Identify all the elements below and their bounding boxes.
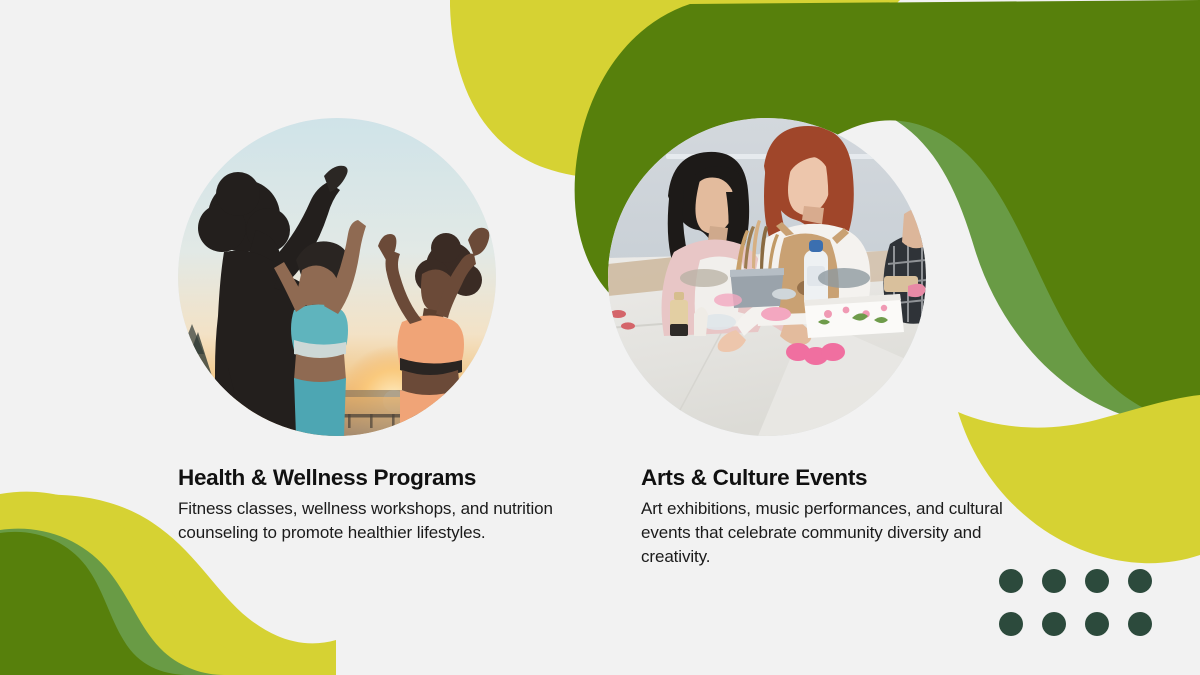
card-title-health-wellness: Health & Wellness Programs bbox=[178, 464, 568, 491]
dot-4 bbox=[1128, 569, 1152, 593]
dot-5 bbox=[999, 612, 1023, 636]
photo-health-wellness bbox=[178, 118, 496, 436]
dot-7 bbox=[1085, 612, 1109, 636]
card-text-arts-culture: Arts & Culture Events Art exhibitions, m… bbox=[641, 464, 1036, 569]
cards-container: Health & Wellness Programs Fitness class… bbox=[0, 0, 1200, 675]
dot-6 bbox=[1042, 612, 1066, 636]
card-arts-culture: Arts & Culture Events Art exhibitions, m… bbox=[641, 118, 1036, 569]
slide-canvas: Health & Wellness Programs Fitness class… bbox=[0, 0, 1200, 675]
photo-health-wellness-illustration bbox=[178, 118, 496, 436]
card-description-health-wellness: Fitness classes, wellness workshops, and… bbox=[178, 497, 560, 545]
decorative-dot-grid bbox=[999, 569, 1152, 636]
dot-8 bbox=[1128, 612, 1152, 636]
card-title-arts-culture: Arts & Culture Events bbox=[641, 464, 1036, 491]
card-text-health-wellness: Health & Wellness Programs Fitness class… bbox=[178, 464, 568, 545]
dot-3 bbox=[1085, 569, 1109, 593]
photo-arts-culture bbox=[608, 118, 926, 436]
card-health-wellness: Health & Wellness Programs Fitness class… bbox=[178, 118, 568, 545]
dot-1 bbox=[999, 569, 1023, 593]
dot-2 bbox=[1042, 569, 1066, 593]
photo-arts-culture-illustration bbox=[608, 118, 926, 436]
card-description-arts-culture: Art exhibitions, music performances, and… bbox=[641, 497, 1026, 569]
